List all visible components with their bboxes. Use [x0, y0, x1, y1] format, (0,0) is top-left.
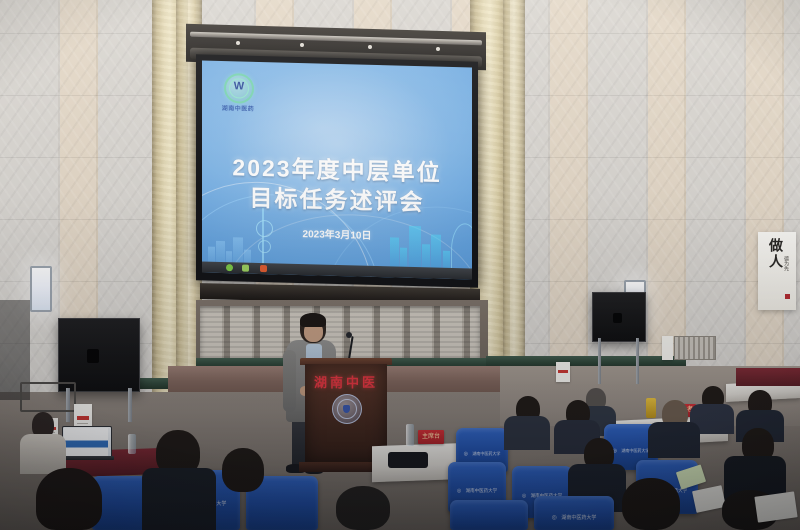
conference-hall-photo: W 湖南中医药 2023年度中层单位 目标任务述评会 2023年3月10日	[0, 0, 800, 530]
lighting-gradient	[0, 0, 800, 530]
